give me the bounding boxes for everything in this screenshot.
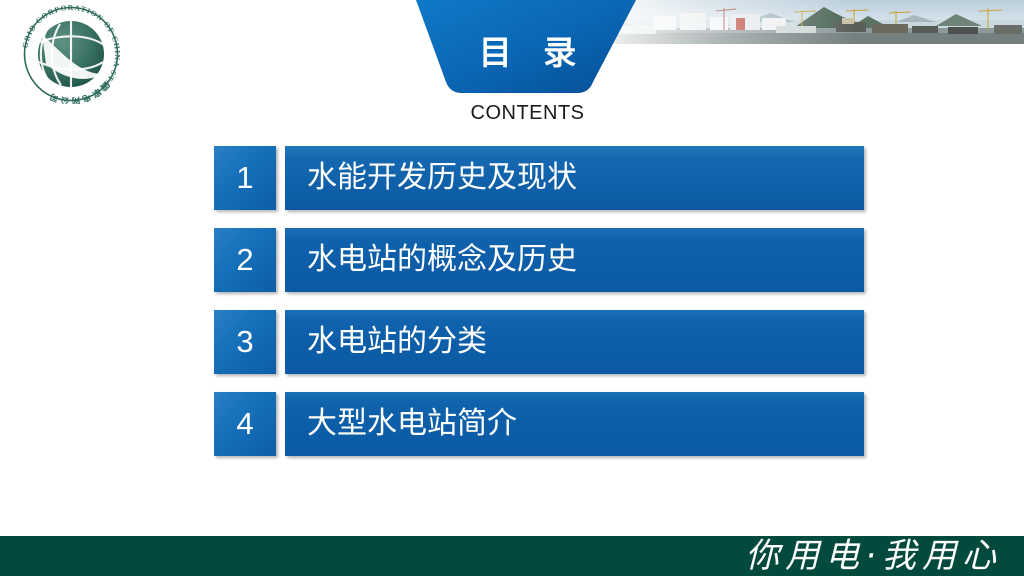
contents-item-4[interactable]: 4 大型水电站简介 <box>214 392 864 456</box>
contents-item-2-label[interactable]: 水电站的概念及历史 <box>285 228 864 292</box>
presentation-slide: GRID CORPORATION OF CHINA STATE 国家电网公司 <box>0 0 1024 576</box>
footer-bar: 你用电·我用心 <box>0 536 1024 576</box>
contents-item-2-number: 2 <box>214 228 276 292</box>
contents-item-1-label[interactable]: 水能开发历史及现状 <box>285 146 864 210</box>
footer-slogan: 你用电·我用心 <box>745 539 1002 573</box>
contents-item-1[interactable]: 1 水能开发历史及现状 <box>214 146 864 210</box>
contents-item-3-label[interactable]: 水电站的分类 <box>285 310 864 374</box>
page-title-cn: 目 录 <box>405 36 650 69</box>
contents-item-4-number: 4 <box>214 392 276 456</box>
contents-item-2[interactable]: 2 水电站的概念及历史 <box>214 228 864 292</box>
contents-item-3[interactable]: 3 水电站的分类 <box>214 310 864 374</box>
contents-item-4-label[interactable]: 大型水电站简介 <box>285 392 864 456</box>
state-grid-corporation-of-china-logo: GRID CORPORATION OF CHINA STATE 国家电网公司 <box>16 4 126 104</box>
power-plant-photo-banner <box>596 0 1024 44</box>
contents-item-1-number: 1 <box>214 146 276 210</box>
contents-item-3-number: 3 <box>214 310 276 374</box>
contents-list: 1 水能开发历史及现状 2 水电站的概念及历史 3 水电站的分类 4 大型水电站… <box>214 146 864 474</box>
page-title-en: CONTENTS <box>405 103 650 123</box>
